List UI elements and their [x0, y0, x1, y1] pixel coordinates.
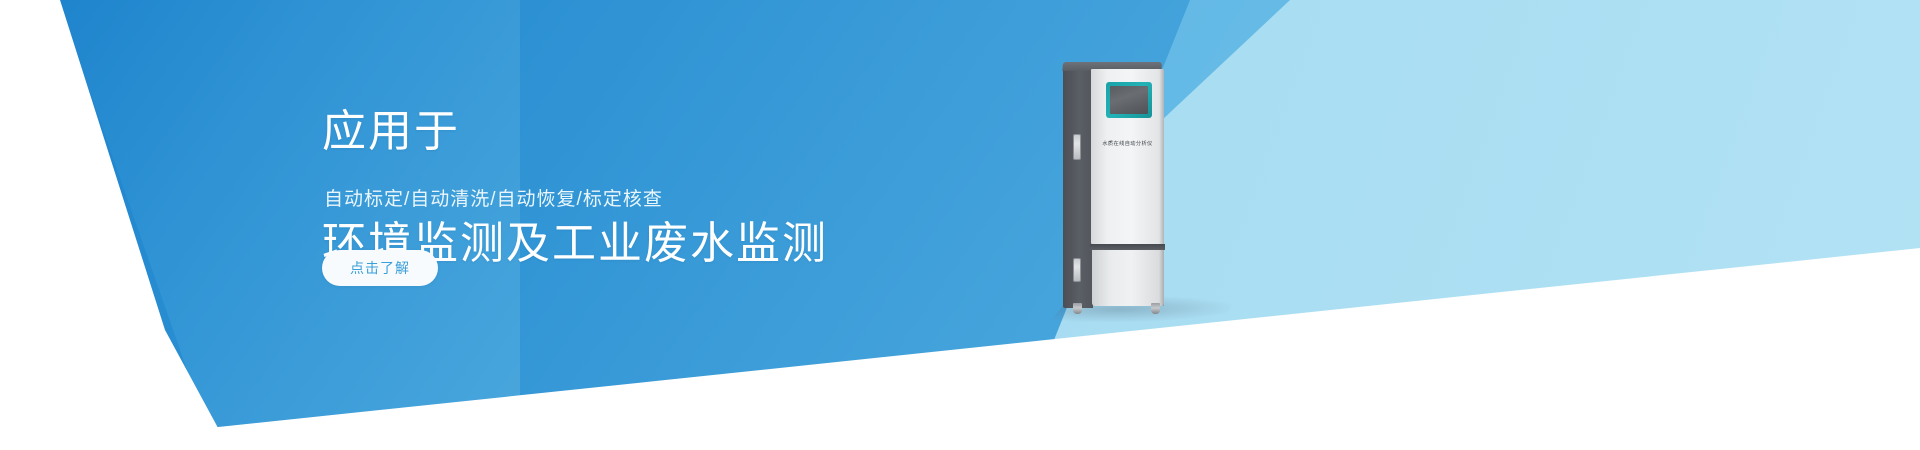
device-lower-door — [1092, 250, 1164, 306]
headline-line-1: 应用于 — [322, 104, 828, 160]
device-screen-bezel — [1106, 82, 1152, 118]
device-lower-handle — [1073, 258, 1081, 282]
device-upper-handle — [1073, 134, 1081, 160]
hero-subtitle: 自动标定/自动清洗/自动恢复/标定核查 — [324, 186, 663, 214]
water-quality-analyzer-image: 水质在线自动分析仪 — [1063, 62, 1181, 314]
hero-content: 应用于 环境监测及工业废水监测 自动标定/自动清洗/自动恢复/标定核查 点击了解 — [322, 0, 1082, 450]
device-label-text: 水质在线自动分析仪 — [1091, 140, 1164, 148]
learn-more-button[interactable]: 点击了解 — [322, 250, 438, 286]
device-wheel-right — [1151, 303, 1160, 314]
device-display — [1110, 86, 1148, 114]
device-wheel-left — [1073, 303, 1082, 314]
hero-banner: 应用于 环境监测及工业废水监测 自动标定/自动清洗/自动恢复/标定核查 点击了解… — [0, 0, 1920, 450]
